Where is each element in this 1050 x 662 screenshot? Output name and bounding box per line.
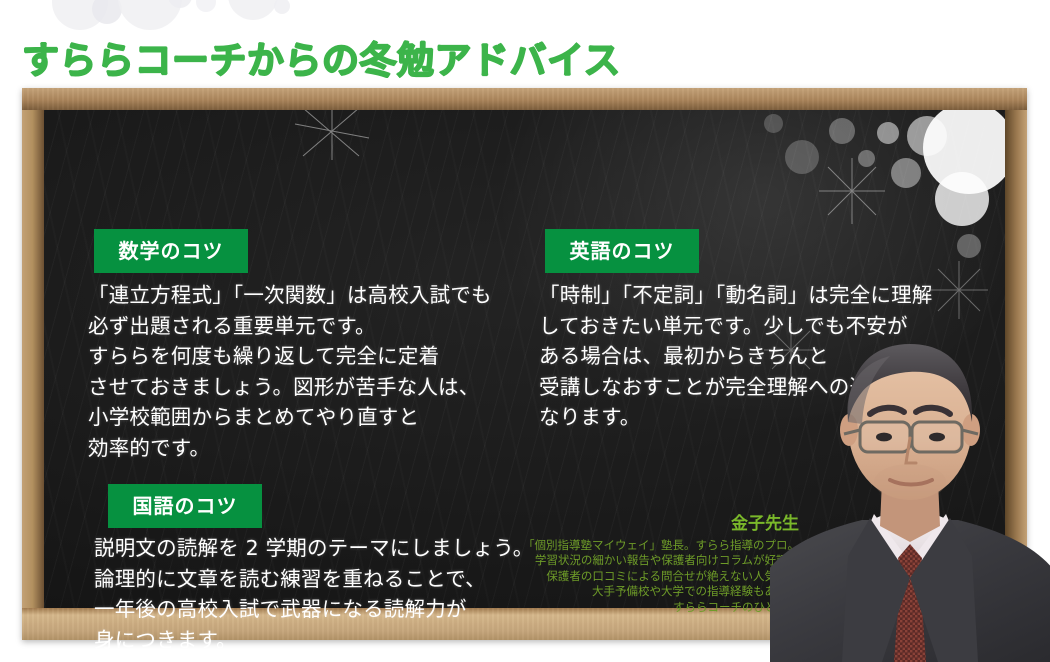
bokeh-circle bbox=[877, 122, 899, 144]
bokeh-circle bbox=[228, 0, 278, 20]
sparkle-icon bbox=[289, 110, 375, 164]
page-title: すららコーチからの冬勉アドバイス bbox=[22, 33, 621, 78]
bokeh-circle bbox=[907, 116, 947, 156]
bokeh-circle bbox=[957, 234, 981, 258]
section-body-math: 「連立方程式」「一次関数」は高校入試でも 必ず出題される重要単元です。 すららを… bbox=[88, 280, 558, 463]
bokeh-circle bbox=[196, 0, 216, 12]
header: すららコーチからの冬勉アドバイス bbox=[0, 0, 1050, 78]
bokeh-circle bbox=[923, 110, 1005, 194]
teacher-portrait bbox=[770, 330, 1050, 662]
bokeh-circle bbox=[891, 158, 921, 188]
bokeh-circle bbox=[935, 172, 989, 226]
bokeh-circle bbox=[858, 150, 875, 167]
slide-root: すららコーチからの冬勉アドバイス bbox=[0, 0, 1050, 662]
bokeh-circle bbox=[785, 140, 819, 174]
bokeh-circle bbox=[274, 0, 290, 14]
sparkle-icon bbox=[817, 156, 887, 226]
section-badge-japanese: 国語のコツ bbox=[108, 484, 262, 528]
teacher-bio: 「個別指導塾マイウェイ」塾長。すらら指導のプロ。 学習状況の細かい報告や保護者向… bbox=[499, 538, 799, 615]
bokeh-circle bbox=[764, 114, 783, 133]
section-badge-english: 英語のコツ bbox=[545, 229, 699, 273]
section-badge-math: 数学のコツ bbox=[94, 229, 248, 273]
bokeh-circle bbox=[829, 118, 855, 144]
